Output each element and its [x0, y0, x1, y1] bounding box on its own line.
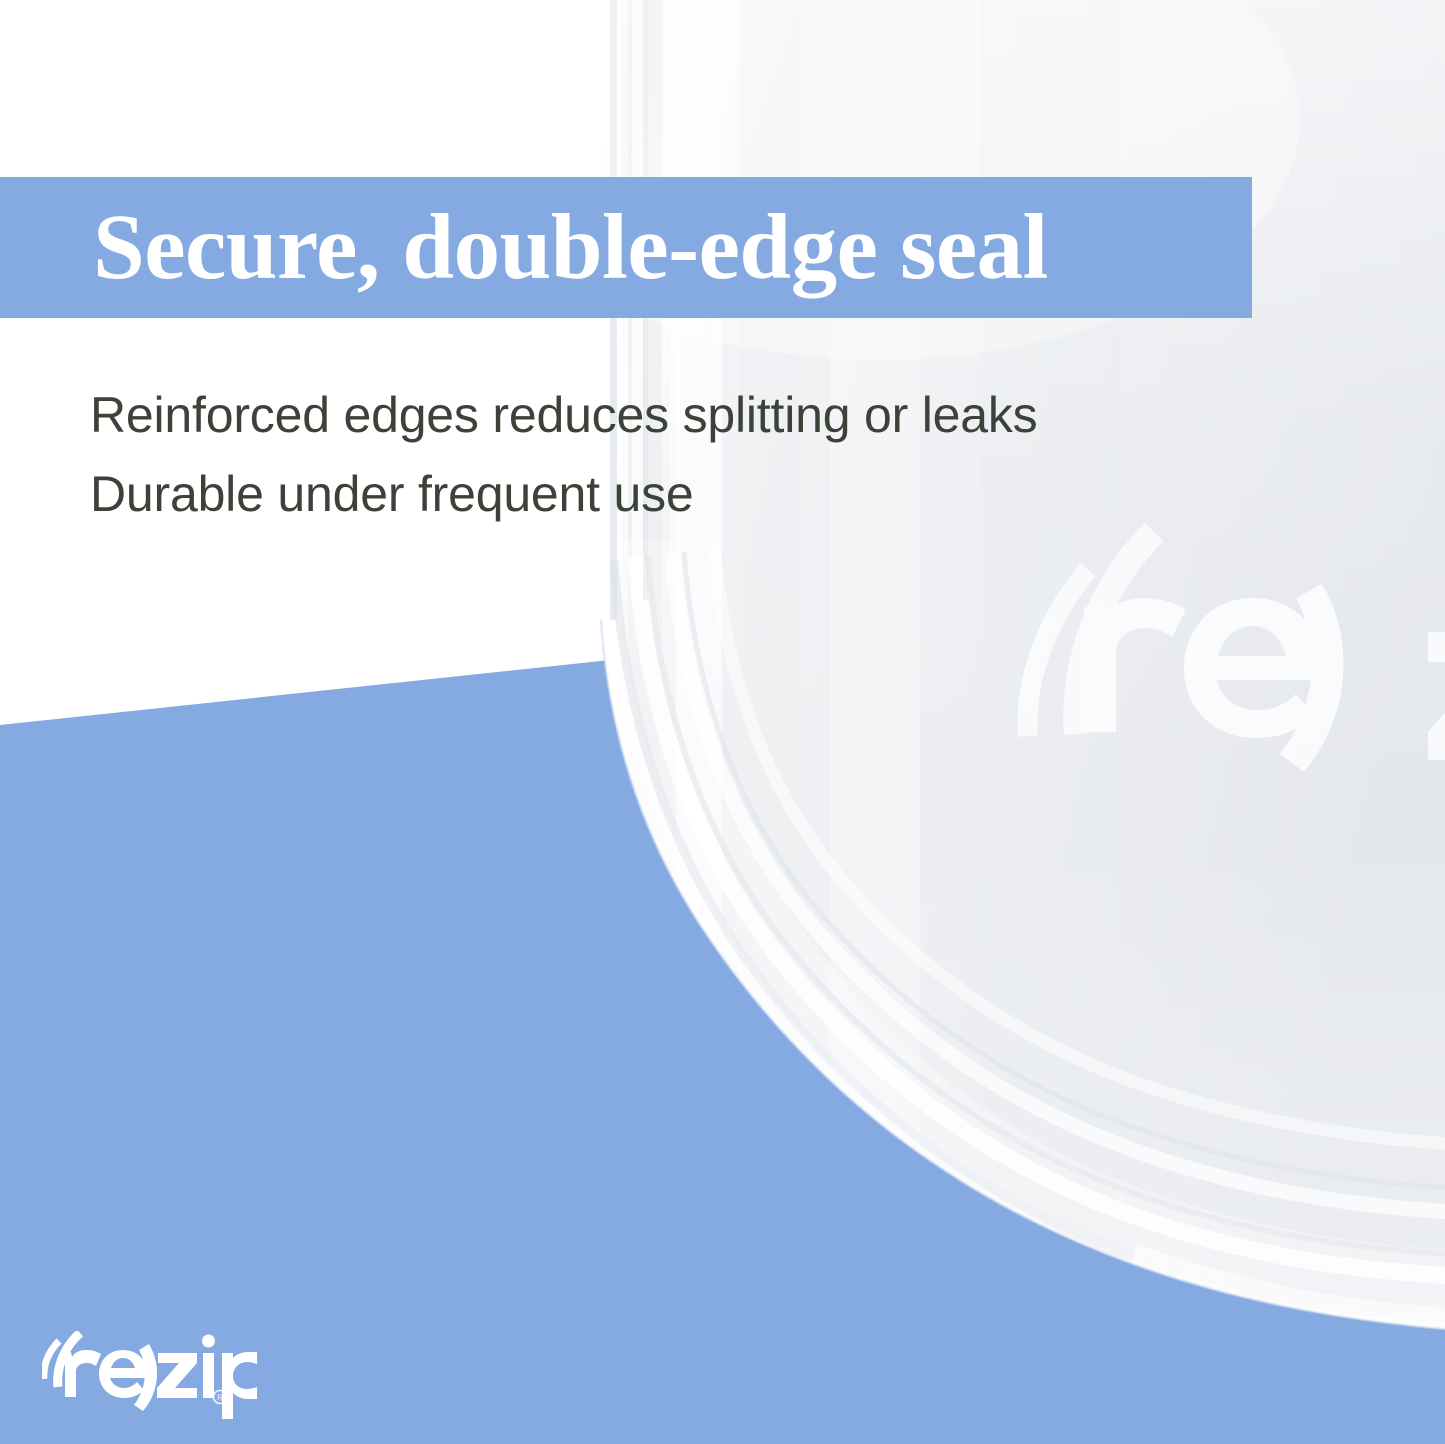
feature-bullet-list: Reinforced edges reduces splitting or le… — [90, 376, 1190, 534]
svg-text:R: R — [217, 1394, 223, 1403]
headline-banner: Secure, double-edge seal — [0, 177, 1252, 318]
marketing-infographic-canvas: Secure, double-edge seal Reinforced edge… — [0, 0, 1445, 1444]
page-title: Secure, double-edge seal — [93, 201, 1048, 294]
feature-bullet-1: Reinforced edges reduces splitting or le… — [90, 376, 1190, 455]
rezip-logo: R — [42, 1331, 257, 1421]
feature-bullet-2: Durable under frequent use — [90, 455, 1190, 534]
